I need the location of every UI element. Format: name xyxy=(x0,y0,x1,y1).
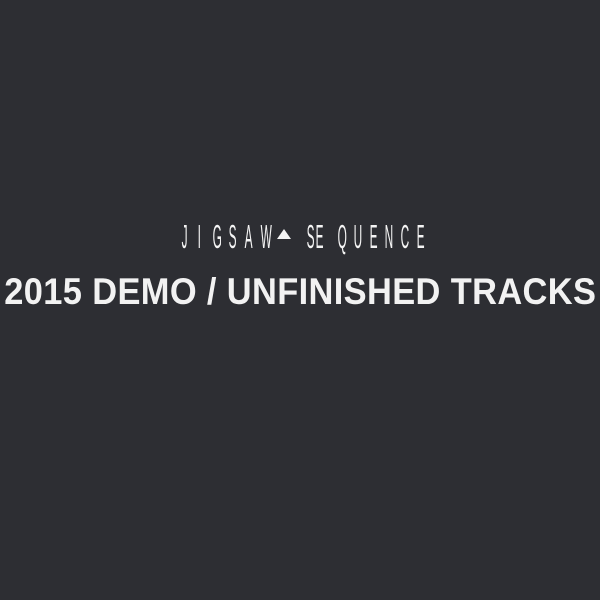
logo-letter: G xyxy=(213,222,215,252)
logo-letter: E xyxy=(417,222,419,252)
logo-word-jigsaw: J I G S A W xyxy=(175,218,270,252)
logo-letter-mirrored-e: Ǝ xyxy=(322,222,324,252)
logo-letter: N xyxy=(385,222,387,252)
logo-letter: U xyxy=(354,222,356,252)
logo-letter: S xyxy=(306,222,308,252)
band-logo-wordmark: J I G S A W S Ǝ Q U E N C E xyxy=(0,218,600,252)
logo-letter: J xyxy=(181,222,183,252)
logo-letter: A xyxy=(245,222,247,252)
logo-letter: I xyxy=(197,222,199,252)
logo-letter: C xyxy=(401,222,403,252)
release-subtitle: 2015 DEMO / UNFINISHED TRACKS xyxy=(4,273,596,311)
triangle-up-icon xyxy=(277,229,291,239)
logo-word-sequence: S Ǝ Q U E N C E xyxy=(299,218,425,252)
cover-content: J I G S A W S Ǝ Q U E N C E 2015 DEMO / … xyxy=(0,0,600,600)
logo-letter: W xyxy=(260,222,262,252)
logo-letter: S xyxy=(229,222,231,252)
logo-letter: E xyxy=(369,222,371,252)
album-cover: J I G S A W S Ǝ Q U E N C E 2015 DEMO / … xyxy=(0,0,600,600)
logo-letter: Q xyxy=(338,222,340,252)
